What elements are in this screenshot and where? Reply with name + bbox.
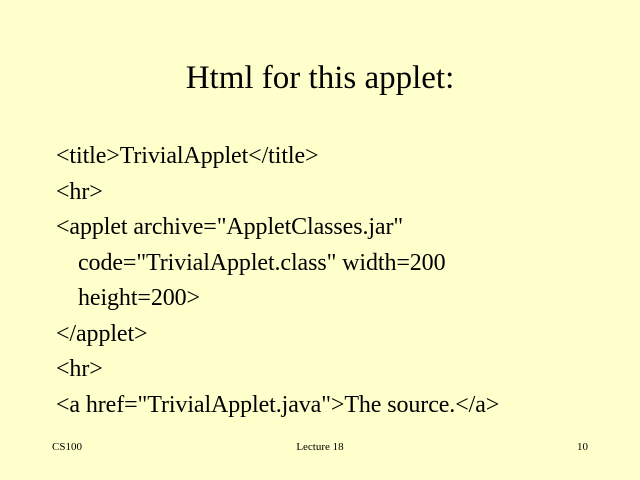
code-line: height=200>: [56, 281, 616, 317]
code-line: code="TrivialApplet.class" width=200: [56, 246, 616, 282]
footer-page-number: 10: [577, 440, 588, 454]
code-line: <hr>: [56, 175, 616, 211]
code-line: </applet>: [56, 317, 616, 353]
footer-lecture-label: Lecture 18: [0, 440, 640, 454]
slide-footer: CS100 Lecture 18 10: [0, 440, 640, 460]
code-line: <applet archive="AppletClasses.jar": [56, 210, 616, 246]
presentation-slide: Html for this applet: <title>TrivialAppl…: [0, 0, 640, 480]
code-line: <title>TrivialApplet</title>: [56, 139, 616, 175]
code-block: <title>TrivialApplet</title> <hr> <apple…: [56, 139, 616, 423]
page-title: Html for this applet:: [0, 58, 640, 98]
code-line: <a href="TrivialApplet.java">The source.…: [56, 388, 616, 424]
code-line: <hr>: [56, 352, 616, 388]
